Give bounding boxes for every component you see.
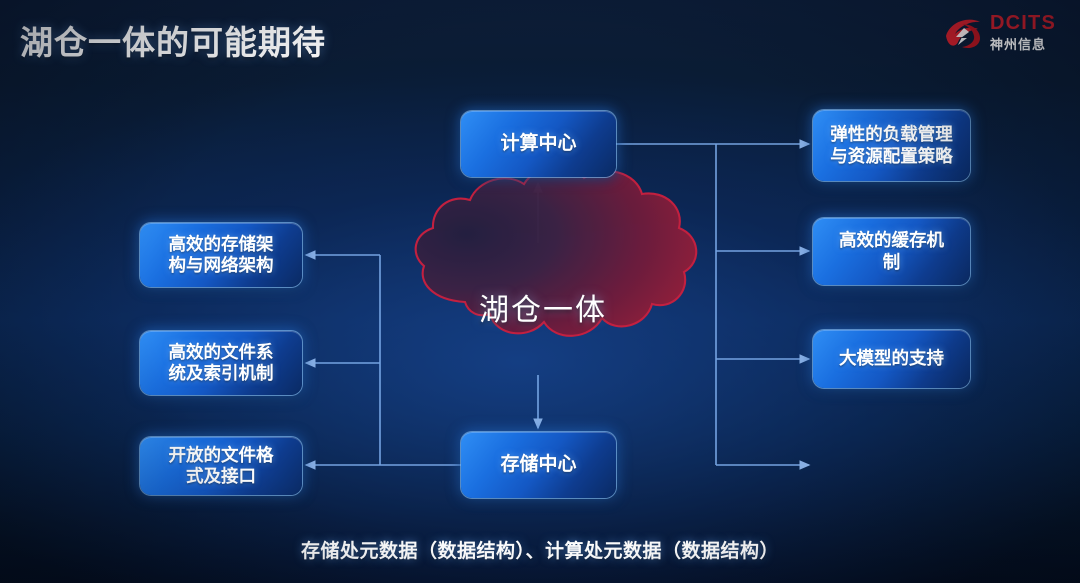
logo-brand-cn: 神州信息 xyxy=(990,34,1046,53)
node-compute-center[interactable]: 计算中心 xyxy=(461,111,616,177)
node-left-2[interactable]: 高效的文件系 统及索引机制 xyxy=(140,331,302,395)
node-left-2-label: 高效的文件系 统及索引机制 xyxy=(169,342,274,385)
node-right-3[interactable]: 大模型的支持 xyxy=(813,330,970,388)
swoosh-logo-icon xyxy=(942,14,986,52)
node-left-3[interactable]: 开放的文件格 式及接口 xyxy=(140,437,302,495)
brand-logo: DCITS 神州信息 xyxy=(942,10,1066,58)
node-left-3-label: 开放的文件格 式及接口 xyxy=(169,445,274,488)
logo-brand-text: DCITS xyxy=(990,12,1056,35)
node-right-3-label: 大模型的支持 xyxy=(839,348,944,369)
node-right-1[interactable]: 弹性的负载管理 与资源配置策略 xyxy=(813,110,970,181)
node-storage-center[interactable]: 存储中心 xyxy=(461,432,616,498)
node-right-2-label: 高效的缓存机 制 xyxy=(839,230,944,273)
cloud-node: 湖仓一体 xyxy=(398,212,688,402)
slide-canvas: 湖仓一体的可能期待 DCITS 神州信息 计算中心 存储中心 湖仓一体 弹性的负… xyxy=(0,0,1080,583)
page-title: 湖仓一体的可能期待 xyxy=(20,16,326,64)
node-storage-label: 存储中心 xyxy=(500,453,576,476)
node-compute-label: 计算中心 xyxy=(500,132,576,155)
footer-caption: 存储处元数据（数据结构）、计算处元数据（数据结构） xyxy=(0,536,1080,563)
node-right-1-label: 弹性的负载管理 与资源配置策略 xyxy=(830,124,953,167)
node-left-1-label: 高效的存储架 构与网络架构 xyxy=(169,234,274,277)
node-left-1[interactable]: 高效的存储架 构与网络架构 xyxy=(140,223,302,287)
cloud-label: 湖仓一体 xyxy=(398,212,688,402)
node-right-2[interactable]: 高效的缓存机 制 xyxy=(813,218,970,285)
